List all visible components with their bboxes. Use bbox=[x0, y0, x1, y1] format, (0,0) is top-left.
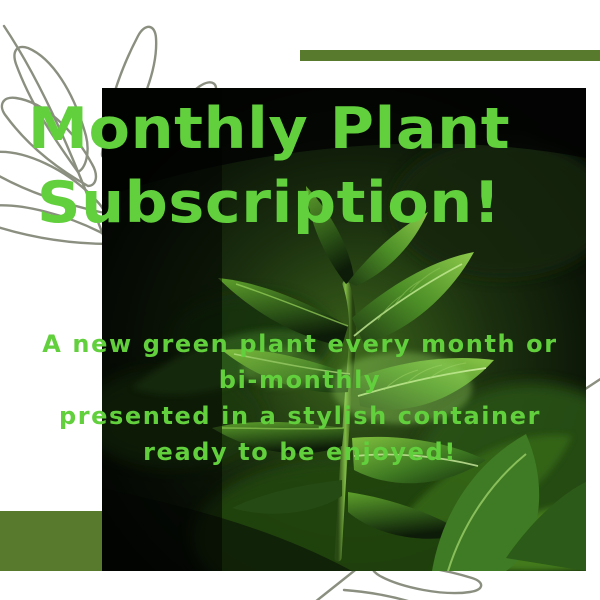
body-line-2: bi-monthly bbox=[0, 362, 600, 398]
poster-canvas: Monthly Plant Subscription! A new green … bbox=[0, 0, 600, 600]
heading-line-2: Subscription! bbox=[0, 166, 554, 240]
body-line-4: ready to be enjoyed! bbox=[0, 434, 600, 470]
poster-heading: Monthly Plant Subscription! bbox=[0, 92, 600, 240]
body-line-1: A new green plant every month or bbox=[0, 326, 600, 362]
heading-line-1: Monthly Plant bbox=[0, 92, 554, 166]
poster-body-copy: A new green plant every month or bi-mont… bbox=[0, 326, 600, 470]
accent-bar-top bbox=[300, 50, 600, 61]
body-line-3: presented in a stylish container bbox=[0, 398, 600, 434]
